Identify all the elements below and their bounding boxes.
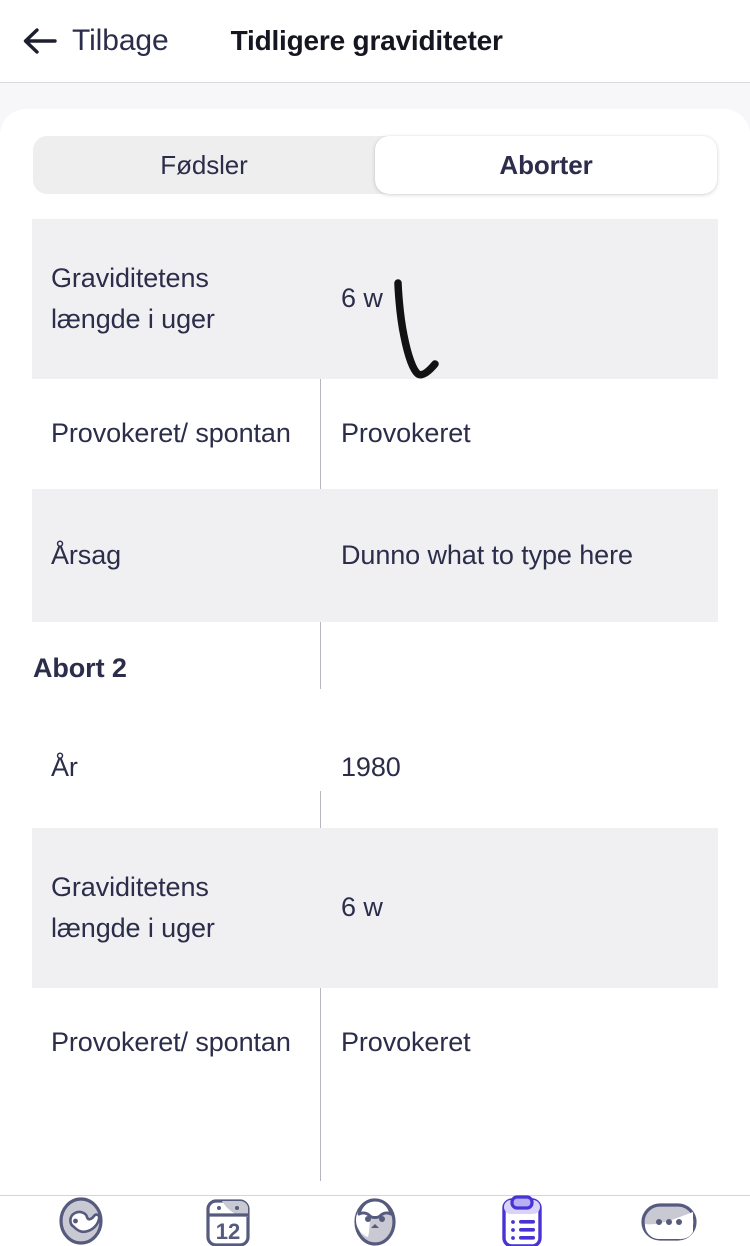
clipboard-list-icon <box>499 1194 545 1246</box>
table-row[interactable]: Provokeret/ spontan Provokeret <box>32 988 718 1098</box>
abortions-table: Graviditetens længde i uger 6 w Provoker… <box>0 219 750 1098</box>
back-label: Tilbage <box>72 24 169 58</box>
table-row[interactable]: Graviditetens længde i uger 6 w <box>32 219 718 379</box>
app-header: Tilbage Tidligere graviditeter <box>0 0 750 83</box>
nav-item-calendar[interactable]: 12 <box>155 1196 302 1246</box>
table-row[interactable]: År 1980 <box>32 708 718 828</box>
nav-item-fetus[interactable] <box>8 1196 155 1246</box>
table-row[interactable]: Årsag Dunno what to type here <box>32 489 718 622</box>
fetus-icon <box>54 1194 108 1246</box>
tab-fodsler[interactable]: Fødsler <box>33 136 375 194</box>
more-ellipsis-icon <box>640 1200 698 1242</box>
nav-item-more[interactable] <box>595 1196 742 1246</box>
app-screen: Tilbage Tidligere graviditeter Fødsler A… <box>0 0 750 1246</box>
nav-item-records[interactable] <box>448 1196 595 1246</box>
row-label: Graviditetens længde i uger <box>32 828 320 988</box>
nav-item-owl[interactable] <box>302 1196 449 1246</box>
table-row[interactable]: Graviditetens længde i uger 6 w <box>32 828 718 988</box>
calendar-12-icon: 12 <box>204 1195 252 1246</box>
row-label: Provokeret/ spontan <box>32 379 320 489</box>
content-area: Fødsler Aborter Graviditetens længde i u… <box>0 83 750 1195</box>
owl-icon <box>349 1194 401 1246</box>
row-value: Provokeret <box>320 988 718 1098</box>
page-title: Tidligere graviditeter <box>231 25 503 57</box>
row-label: Provokeret/ spontan <box>32 988 320 1098</box>
tab-segmented-control: Fødsler Aborter <box>33 136 717 194</box>
tab-aborter[interactable]: Aborter <box>375 136 717 194</box>
table-scroll-area[interactable]: Graviditetens længde i uger 6 w Provoker… <box>0 194 750 1195</box>
row-label: Graviditetens længde i uger <box>32 219 320 379</box>
row-value: 1980 <box>320 708 718 828</box>
section-heading-abort-2: Abort 2 <box>0 622 750 708</box>
arrow-left-icon <box>22 26 58 56</box>
row-value: Provokeret <box>320 379 718 489</box>
row-value: Dunno what to type here <box>320 489 718 622</box>
content-card: Fødsler Aborter Graviditetens længde i u… <box>0 109 750 1195</box>
svg-text:12: 12 <box>216 1219 240 1244</box>
bottom-navigation-bar: 12 <box>0 1195 750 1246</box>
row-label: Årsag <box>32 489 320 622</box>
row-value: 6 w <box>320 219 718 379</box>
back-button[interactable]: Tilbage <box>22 24 169 58</box>
row-value: 6 w <box>320 828 718 988</box>
table-row[interactable]: Provokeret/ spontan Provokeret <box>32 379 718 489</box>
row-label: År <box>32 708 320 828</box>
